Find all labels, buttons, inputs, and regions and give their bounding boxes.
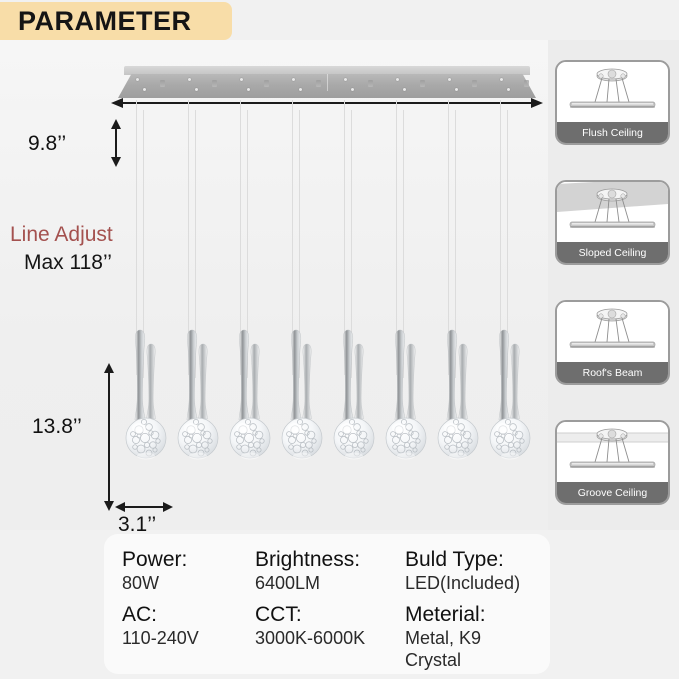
flush-ceiling-icon xyxy=(557,62,668,122)
spec-value: 6400LM xyxy=(255,572,405,595)
canopy-screw xyxy=(160,80,165,87)
spec-key: Meterial: xyxy=(405,603,542,627)
pendant-height-arrow xyxy=(108,372,110,502)
product-parameter-diagram: PARAMETER 55’’ 9.8’’ Line Adjust Max 118… xyxy=(0,0,679,679)
canopy-screw xyxy=(264,80,269,87)
parameter-banner: PARAMETER xyxy=(0,2,232,40)
mounting-option-label: Roof's Beam xyxy=(557,362,668,383)
mounting-option-flush-ceiling[interactable]: Flush Ceiling xyxy=(555,60,670,145)
cable-mount-point xyxy=(240,78,243,81)
pendant-light xyxy=(484,326,540,466)
spec-value: 80W xyxy=(122,572,255,595)
cable-mount-point xyxy=(188,78,191,81)
arrow-up-icon xyxy=(111,119,121,129)
cable-mount-point xyxy=(292,78,295,81)
specifications-panel: Power:80WBrightness:6400LMBuld Type:LED(… xyxy=(104,534,550,674)
arrow-up-icon xyxy=(104,363,114,373)
chandelier-illustration: 55’’ 9.8’’ Line Adjust Max 118’’ xyxy=(0,40,548,530)
spec-item: AC:110-240V xyxy=(122,599,255,672)
spec-key: Power: xyxy=(122,548,255,572)
cable-mount-point xyxy=(403,88,406,91)
cable-mount-point xyxy=(351,88,354,91)
pendant-light xyxy=(120,326,176,466)
cable-mount-point xyxy=(299,88,302,91)
line-adjust-value: Max 118’’ xyxy=(24,251,112,275)
spec-key: Buld Type: xyxy=(405,548,542,572)
spec-item: Power:80W xyxy=(122,544,255,595)
cable-mount-point xyxy=(500,78,503,81)
groove-ceiling-icon xyxy=(557,422,668,482)
spec-item: Brightness:6400LM xyxy=(255,544,405,595)
mounting-option-label: Flush Ceiling xyxy=(557,122,668,143)
crystal-width-arrow xyxy=(124,506,164,508)
spec-item: Meterial:Metal, K9 Crystal xyxy=(405,599,542,672)
mounting-option-label: Groove Ceiling xyxy=(557,482,668,503)
spec-item: Buld Type:LED(Included) xyxy=(405,544,542,595)
spec-value: 3000K-6000K xyxy=(255,627,405,650)
canopy-depth-label: 9.8’’ xyxy=(28,132,66,156)
cable-mount-point xyxy=(344,78,347,81)
pendant-height-label: 13.8’’ xyxy=(32,415,82,439)
roofs-beam-icon xyxy=(557,302,668,362)
spec-item: CCT:3000K-6000K xyxy=(255,599,405,672)
pendant-light xyxy=(224,326,280,466)
mounting-option-groove-ceiling[interactable]: Groove Ceiling xyxy=(555,420,670,505)
canopy-depth-arrow xyxy=(115,128,117,158)
mounting-option-roof-s-beam[interactable]: Roof's Beam xyxy=(555,300,670,385)
sloped-ceiling-icon xyxy=(557,182,668,242)
arrow-right-icon xyxy=(163,502,173,512)
pendant-light xyxy=(432,326,488,466)
cable-mount-point xyxy=(455,88,458,91)
canopy-bar xyxy=(118,66,536,106)
mounting-option-sloped-ceiling[interactable]: Sloped Ceiling xyxy=(555,180,670,265)
spec-value: 110-240V xyxy=(122,627,255,650)
spec-key: Brightness: xyxy=(255,548,405,572)
spec-key: CCT: xyxy=(255,603,405,627)
arrow-down-icon xyxy=(111,157,121,167)
canopy-screw xyxy=(316,80,321,87)
mounting-options-list: Flush Ceiling Sloped Ceiling Roof's Beam xyxy=(548,40,679,530)
spec-value: LED(Included) xyxy=(405,572,542,595)
page-title: PARAMETER xyxy=(0,6,192,37)
line-adjust-title: Line Adjust xyxy=(10,223,113,247)
pendant-light xyxy=(172,326,228,466)
cable-mount-point xyxy=(507,88,510,91)
cable-mount-point xyxy=(448,78,451,81)
cable-mount-point xyxy=(195,88,198,91)
mounting-option-label: Sloped Ceiling xyxy=(557,242,668,263)
canopy-screw xyxy=(472,80,477,87)
cable-mount-point xyxy=(396,78,399,81)
arrow-down-icon xyxy=(104,501,114,511)
canopy-seam xyxy=(327,74,328,91)
spec-key: AC: xyxy=(122,603,255,627)
pendant-light xyxy=(328,326,384,466)
canopy-screw xyxy=(368,80,373,87)
cable-mount-point xyxy=(136,78,139,81)
canopy-screw xyxy=(420,80,425,87)
arrow-left-icon xyxy=(115,502,125,512)
spec-value: Metal, K9 Crystal xyxy=(405,627,542,672)
pendant-light xyxy=(380,326,436,466)
canopy-screw xyxy=(212,80,217,87)
cable-mount-point xyxy=(247,88,250,91)
cable-mount-point xyxy=(143,88,146,91)
pendant-light xyxy=(276,326,332,466)
specifications-grid: Power:80WBrightness:6400LMBuld Type:LED(… xyxy=(122,544,542,672)
canopy-screw xyxy=(524,80,529,87)
